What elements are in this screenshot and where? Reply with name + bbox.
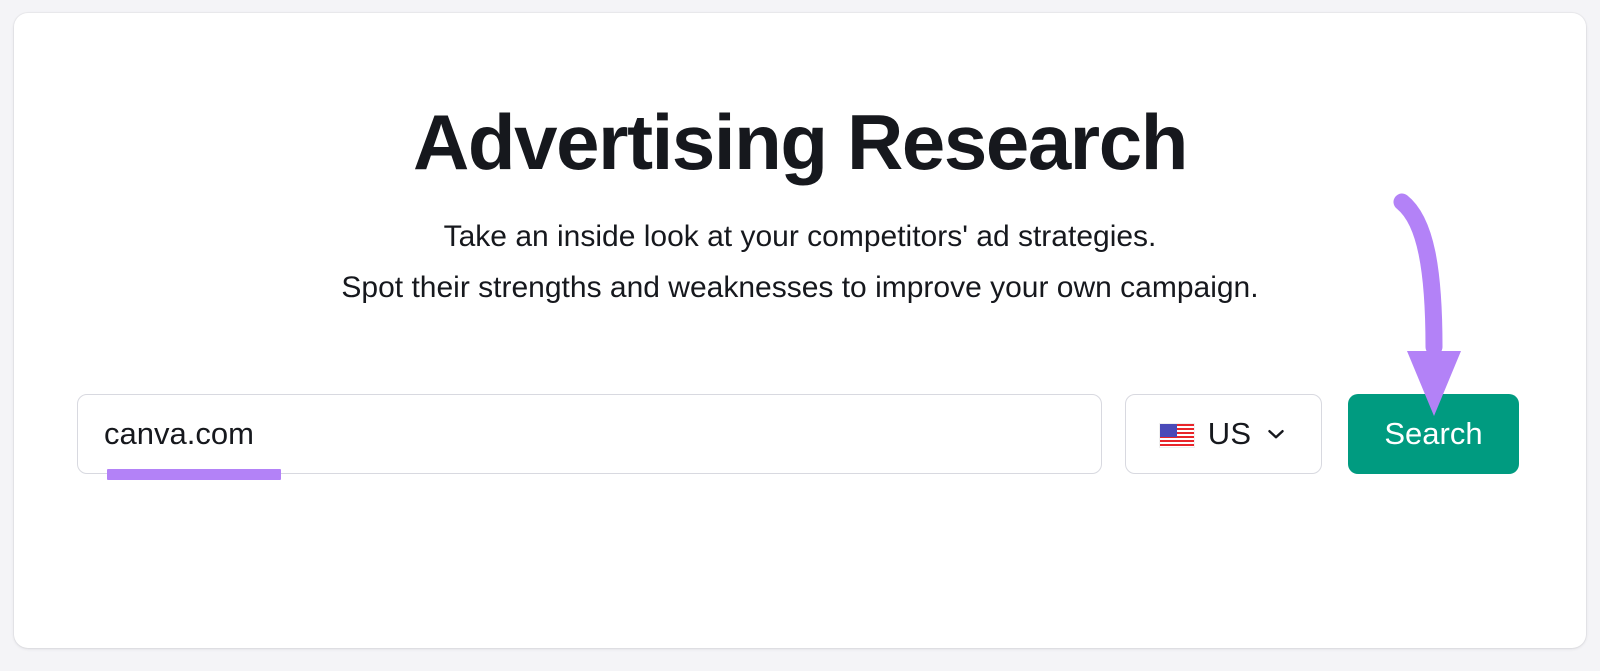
- page-title: Advertising Research: [14, 95, 1586, 189]
- page-subtitle-line-2: Spot their strengths and weaknesses to i…: [14, 262, 1586, 313]
- country-selector[interactable]: US: [1125, 394, 1322, 474]
- advertising-research-card: Advertising Research Take an inside look…: [14, 13, 1586, 648]
- page-subtitle: Take an inside look at your competitors'…: [14, 211, 1586, 313]
- domain-search-input[interactable]: [77, 394, 1102, 474]
- search-form: US Search: [77, 394, 1519, 474]
- country-selector-label: US: [1208, 416, 1251, 452]
- search-button[interactable]: Search: [1348, 394, 1519, 474]
- input-highlight-underline: [107, 469, 281, 480]
- us-flag-icon: [1159, 420, 1195, 447]
- app-root: Advertising Research Take an inside look…: [0, 0, 1600, 671]
- domain-input-wrapper: [77, 394, 1102, 474]
- page-subtitle-line-1: Take an inside look at your competitors'…: [14, 211, 1586, 262]
- chevron-down-icon: [1264, 422, 1288, 446]
